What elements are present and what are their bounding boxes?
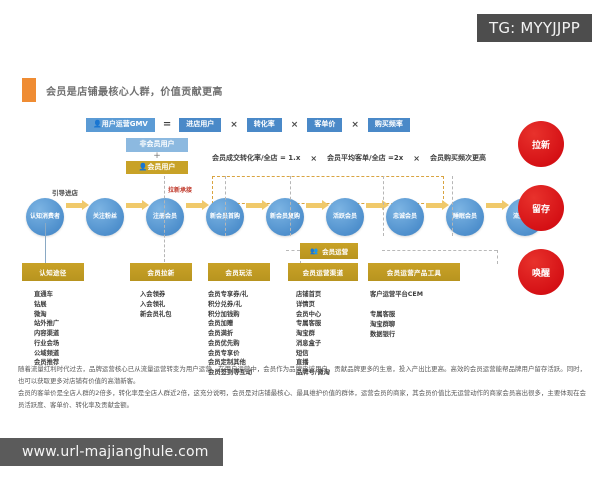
list-item: 店铺首页: [296, 290, 358, 300]
watermark-tag: TG: MYYJJPP: [477, 14, 592, 42]
connector-dash: [164, 176, 165, 262]
flow-arrow: [126, 203, 142, 208]
section-member-channels: 会员运营渠道 店铺首页 详情页 会员中心 专属客服 淘宝群 消息盒子 短信 直播…: [288, 263, 358, 378]
page-title-label: 会员是店铺最核心人群，价值贡献更高: [46, 83, 223, 98]
summary-paragraph: 随着流量红利时代过去，品牌运营核心已从流量运营转变为用户运营，在用户运营中，会员…: [18, 364, 586, 411]
list-item: 站外推广: [34, 319, 84, 329]
flow-arrow: [426, 203, 442, 208]
metric-2: 会员购买频次更高: [430, 153, 486, 163]
connector-dash: [383, 176, 384, 236]
list-item: 直通车: [34, 290, 84, 300]
list-item: 会员专享券/礼: [208, 290, 270, 300]
list-item: 内容渠道: [34, 329, 84, 339]
flow-node-1[interactable]: 关注粉丝: [86, 198, 124, 236]
breakdown-plus: +: [126, 153, 188, 160]
list-item: 公域频道: [34, 349, 84, 359]
list-item: 行业会场: [34, 339, 84, 349]
connector-dash: [225, 176, 226, 236]
flow-arrow: [66, 203, 82, 208]
section-title: 会员玩法: [208, 263, 270, 281]
stage-circle-reactivation[interactable]: 唤醒: [518, 249, 564, 295]
formula-subject: 👤用户运营GMV: [86, 118, 155, 132]
list-item: 会员满折: [208, 329, 270, 339]
list-item: 消息盒子: [296, 339, 358, 349]
list-item: 客户运营平台CEM: [370, 290, 460, 300]
list-item: 钻展: [34, 300, 84, 310]
non-member-chip: 非会员用户: [126, 138, 188, 152]
formula-operator-2: ×: [351, 120, 359, 130]
gmv-formula: 👤用户运营GMV = 进店用户 × 转化率 × 客单价 × 购买频率: [86, 118, 410, 132]
section-title: 认知途径: [22, 263, 84, 281]
list-item: 淘宝群: [296, 329, 358, 339]
flow-node-4[interactable]: 新会员复购: [266, 198, 304, 236]
formula-operator-1: ×: [291, 120, 299, 130]
flow-node-2[interactable]: 注册会员: [146, 198, 184, 236]
list-item: 会员专享价: [208, 349, 270, 359]
list-item: 新会员礼包: [140, 310, 192, 320]
formula-equals: =: [163, 119, 171, 130]
operations-user-icon: 👥: [310, 247, 318, 255]
list-item: 数据银行: [370, 330, 460, 340]
connector-dash: [290, 176, 291, 236]
list-item: 会员加赠: [208, 319, 270, 329]
ops-dash-right: [382, 250, 497, 251]
metric-1: 会员平均客单/全店 =2x: [327, 153, 403, 163]
title-accent-bar: [22, 78, 36, 102]
metric-operator-0: ×: [310, 154, 317, 163]
section-awareness: 认知途径 直通车 钻展 微淘 站外推广 内容渠道 行业会场 公域频道 会员推荐: [22, 263, 84, 368]
flow-arrow: [486, 203, 502, 208]
formula-term-0: 进店用户: [179, 118, 221, 132]
list-item: 微淘: [34, 310, 84, 320]
formula-operator-0: ×: [230, 120, 238, 130]
formula-term-2: 客单价: [307, 118, 342, 132]
user-breakdown: 非会员用户 + 👤会员用户: [126, 138, 188, 174]
flow-arrow: [246, 203, 262, 208]
formula-term-3: 购买频率: [368, 118, 410, 132]
member-chip: 👤会员用户: [126, 161, 188, 175]
list-item: 入会领券: [140, 290, 192, 300]
flow-arrow: [306, 203, 322, 208]
section-title: 会员运营产品工具: [368, 263, 460, 281]
connector-dash: [452, 176, 453, 236]
section-title: 会员拉新: [130, 263, 192, 281]
watermark-url: www.url-majianghule.com: [0, 438, 223, 466]
section-list: 直通车 钻展 微淘 站外推广 内容渠道 行业会场 公域频道 会员推荐: [22, 290, 84, 368]
flow-node-5[interactable]: 活跃会员: [326, 198, 364, 236]
list-item: 淘宝群聊: [370, 320, 460, 330]
member-metrics: 会员成交转化率/全店 = 1.x × 会员平均客单/全店 =2x × 会员购买频…: [212, 153, 486, 163]
stage-circle-acquisition[interactable]: 拉新: [518, 121, 564, 167]
member-operations-badge: 👥 会员运营: [300, 243, 358, 259]
list-item: 积分兑券/礼: [208, 300, 270, 310]
paragraph-line-2: 会员的客单价是全店人群的2倍多，转化率是全店人群近2倍，这充分说明，会员是对店铺…: [18, 388, 586, 412]
section-member-tools: 会员运营产品工具 客户运营平台CEM 专属客服 淘宝群聊 数据银行: [368, 263, 460, 340]
stage-circle-retention[interactable]: 留存: [518, 185, 564, 231]
list-item: 会员优先购: [208, 339, 270, 349]
ops-dash-left: [286, 250, 300, 251]
flow-arrow: [366, 203, 382, 208]
ops-dash-down-right: [497, 250, 498, 264]
list-item: 短信: [296, 349, 358, 359]
page-title: 会员是店铺最核心人群，价值贡献更高: [22, 78, 223, 102]
section-member-mechanics: 会员玩法 会员专享券/礼 积分兑券/礼 积分加钱购 会员加赠 会员满折 会员优先…: [208, 263, 270, 378]
flow-lead-label: 引导进店: [52, 187, 78, 197]
list-item-spacer: [370, 300, 460, 310]
list-item: 详情页: [296, 300, 358, 310]
list-item: 专属客服: [296, 319, 358, 329]
flow-acquisition-label: 拉新承接: [168, 185, 192, 194]
formula-term-1: 转化率: [247, 118, 282, 132]
list-item: 积分加钱购: [208, 310, 270, 320]
paragraph-line-1: 随着流量红利时代过去，品牌运营核心已从流量运营转变为用户运营，在用户运营中，会员…: [18, 364, 586, 388]
flow-arrow: [186, 203, 202, 208]
list-item: 入会领礼: [140, 300, 192, 310]
connector-line: [45, 223, 46, 263]
section-title: 会员运营渠道: [288, 263, 358, 281]
user-icon: 👤: [93, 120, 102, 128]
section-member-acquisition: 会员拉新 入会领券 入会领礼 新会员礼包: [130, 263, 192, 319]
flow-node-6[interactable]: 忠诚会员: [386, 198, 424, 236]
metric-operator-1: ×: [413, 154, 420, 163]
list-item: 专属客服: [370, 310, 460, 320]
section-list: 客户运营平台CEM 专属客服 淘宝群聊 数据银行: [368, 290, 460, 340]
metric-0: 会员成交转化率/全店 = 1.x: [212, 153, 300, 163]
list-item: 会员中心: [296, 310, 358, 320]
section-list: 入会领券 入会领礼 新会员礼包: [130, 290, 192, 319]
